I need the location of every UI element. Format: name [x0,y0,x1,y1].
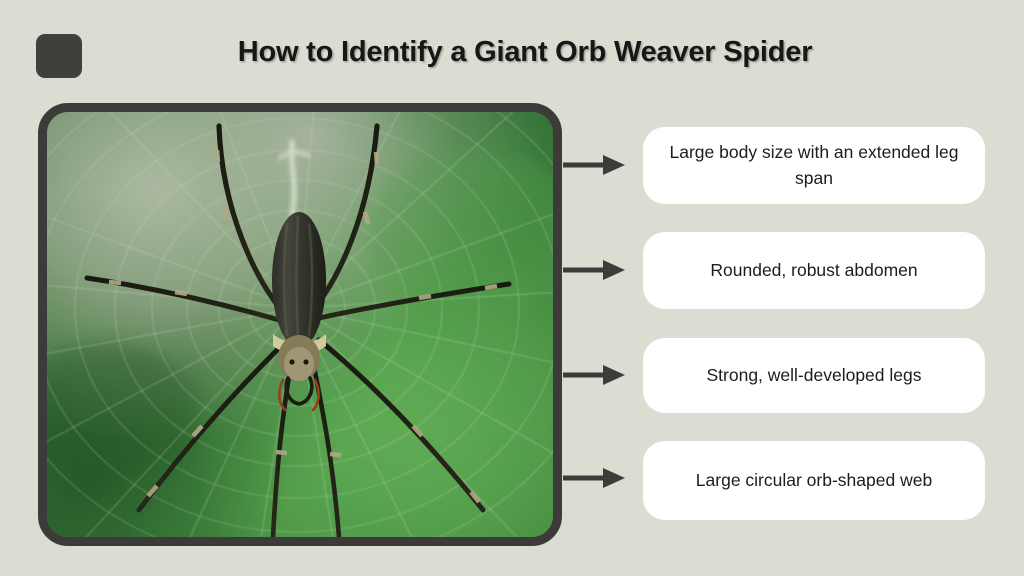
arrow-right-icon [563,465,629,491]
spider-photo-frame [38,103,562,546]
arrow-right-icon [563,362,629,388]
callout-text: Rounded, robust abdomen [710,258,917,283]
callout-card-body-size: Large body size with an extended leg spa… [643,127,985,204]
callout-text: Strong, well-developed legs [707,363,922,388]
logo-mark [36,34,82,78]
arrow-right-icon [563,257,629,283]
spider-photo [47,112,553,537]
callout-card-abdomen: Rounded, robust abdomen [643,232,985,309]
callout-card-legs: Strong, well-developed legs [643,338,985,413]
spider-photo-illustration [47,112,553,537]
arrow-right-icon-3 [563,362,629,388]
arrow-right-icon-4 [563,465,629,491]
arrow-right-icon [563,152,629,178]
callout-text: Large body size with an extended leg spa… [669,140,959,191]
callout-text: Large circular orb-shaped web [696,468,932,493]
page-title: How to Identify a Giant Orb Weaver Spide… [110,36,940,69]
callout-card-web: Large circular orb-shaped web [643,441,985,520]
arrow-right-icon-2 [563,257,629,283]
arrow-right-icon-1 [563,152,629,178]
